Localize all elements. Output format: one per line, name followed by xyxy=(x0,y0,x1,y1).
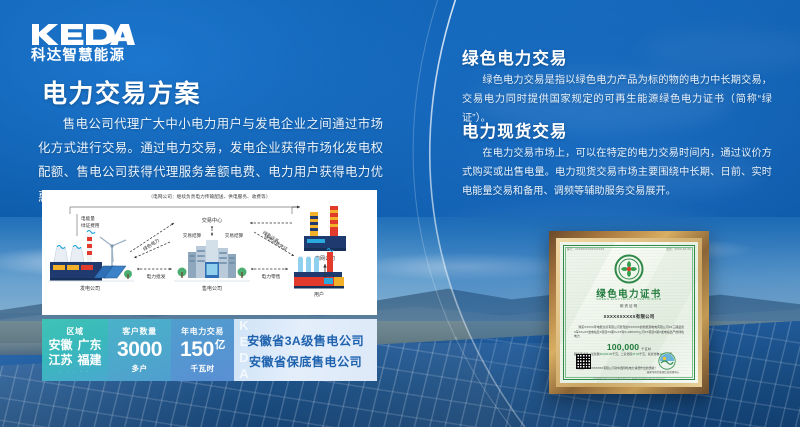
certificate-serial: 编号：XXXXXXXXXXXXXXXX xyxy=(567,247,604,251)
stat-region: 区域 安徽 广东 江苏 福建 · · · · · xyxy=(42,319,108,381)
cert-p2-mid: 千克，二氧化硫 xyxy=(612,352,632,356)
stat-volume-unit: 亿 xyxy=(215,339,225,351)
section-heading-spot-trading: 电力现货交易 xyxy=(462,118,568,142)
stat-customers-sub: 多户 xyxy=(132,363,148,374)
stat-region-values: 安徽 广东 江苏 福建 xyxy=(48,339,101,368)
certificate-paragraph: 购买XXXXX年电能交易有限公司管辖的XXXXXX的新能源电电有限公司XX三期盛… xyxy=(574,325,684,339)
certificate-qr-code xyxy=(576,354,591,369)
svg-text:交易中心: 交易中心 xyxy=(202,216,223,224)
cert-p2-mid2: 千克，氮氧化物 xyxy=(639,352,659,356)
stats-bar: 区域 安徽 广东 江苏 福建 · · · · · 客户数量 3000 多户 年电… xyxy=(42,319,377,381)
certificate-subtitle: 碳资证明 xyxy=(560,304,698,309)
cert-p2-v1: 49,000.00 xyxy=(600,352,613,356)
certificate-paper: 编号：XXXXXXXXXXXXXXXX 批次：XXXX-XX-XX 绿色电力证书… xyxy=(560,242,698,383)
region-jiangsu: 江苏 xyxy=(48,354,72,368)
stat-customers-caption: 客户数量 xyxy=(122,326,156,337)
diagram-graphics: 电能量 绿证费用 xyxy=(42,190,377,315)
certificate-amount-wrap: 100,000千瓦时 xyxy=(560,342,698,352)
certificate-batch: 批次：XXXX-XX-XX xyxy=(666,247,691,251)
stat-customers: 客户数量 3000 多户 xyxy=(108,319,171,381)
svg-text:电力批发: 电力批发 xyxy=(146,273,165,280)
certificate-footer: 中国绿色电力证书认购交易平台 www.greenenergy.org.cn xyxy=(560,376,698,380)
section-body-spot-trading: 在电力交易市场上，可以在特定的电力交易时间内，通过议价方式购买或出售电量。电力现… xyxy=(462,145,772,202)
region-fujian: 福建 xyxy=(78,354,102,368)
certificate-company: XXXXXXXXXX有限公司 xyxy=(560,314,698,320)
stat-volume-value: 150 xyxy=(180,338,214,361)
svg-text:绿色消费凭证: 绿色消费凭证 xyxy=(263,233,290,253)
svg-text:交易结算: 交易结算 xyxy=(183,232,202,239)
node-grid-icon xyxy=(304,206,346,251)
brand-logo-chinese: 科达智慧能源 xyxy=(31,49,171,64)
stat-region-dots: · · · · · xyxy=(60,369,91,374)
node-user-icon xyxy=(294,249,344,289)
certificate-seal-icon xyxy=(658,352,676,370)
svg-text:绿证费用: 绿证费用 xyxy=(81,222,100,229)
svg-text:交易结算: 交易结算 xyxy=(225,232,244,239)
stat-region-caption: 区域 xyxy=(66,326,83,337)
stat-volume-sub: 千瓦时 xyxy=(191,363,215,374)
certificate-title-en: GREEN ELECTRICITY CERTIFICATE xyxy=(560,297,698,301)
region-anhui: 安徽 xyxy=(48,339,72,353)
qualification-card: KEDA 安徽省3A级售电公司 安徽省保底售电公司 xyxy=(234,319,377,381)
svg-text:售电公司: 售电公司 xyxy=(202,285,222,292)
svg-text:电能量: 电能量 xyxy=(81,215,95,222)
node-generation-icon xyxy=(48,231,134,282)
stat-volume: 年电力交易 150亿 千瓦时 xyxy=(171,319,234,381)
svg-text:电力零售: 电力零售 xyxy=(261,273,280,280)
qualification-line-2: 安徽省保底售电公司 xyxy=(249,352,362,370)
certificate-topline: 编号：XXXXXXXXXXXXXXXX 批次：XXXX-XX-XX xyxy=(567,247,691,251)
brand-logo[interactable]: 科达智慧能源 xyxy=(31,22,171,64)
node-retailer-icon xyxy=(174,240,250,281)
certificate-amount: 100,000 xyxy=(607,342,639,352)
trading-flow-diagram: （电网公司：继续负责电力传输配送、供电服务、收费等） 电能量 绿证费用 xyxy=(42,190,377,315)
svg-text:发电公司: 发电公司 xyxy=(80,285,100,292)
svg-text:用户: 用户 xyxy=(314,291,324,298)
region-guangdong: 广东 xyxy=(78,339,102,353)
green-certificate[interactable]: 编号：XXXXXXXXXXXXXXXX 批次：XXXX-XX-XX 绿色电力证书… xyxy=(549,231,709,394)
green-energy-emblem-icon xyxy=(614,254,644,284)
section-heading-green-power: 绿色电力交易 xyxy=(462,45,568,69)
stat-volume-value-wrap: 150亿 xyxy=(180,339,225,360)
qualification-line-1: 安徽省3A级售电公司 xyxy=(247,331,364,349)
qualification-lines: 安徽省3A级售电公司 安徽省保底售电公司 xyxy=(234,319,377,381)
keda-logomark-icon xyxy=(31,22,135,47)
certificate-amount-unit: 千瓦时 xyxy=(641,347,651,351)
stat-customers-value: 3000 xyxy=(117,339,162,360)
certificate-seal-text: 国家可再生能源信息管理中心 xyxy=(636,370,690,374)
poster-root: 科达智慧能源 电力交易方案 售电公司代理广大中小电力用户与发电企业之间通过市场化… xyxy=(0,0,800,427)
page-title: 电力交易方案 xyxy=(42,74,201,110)
stat-volume-caption: 年电力交易 xyxy=(181,326,224,337)
